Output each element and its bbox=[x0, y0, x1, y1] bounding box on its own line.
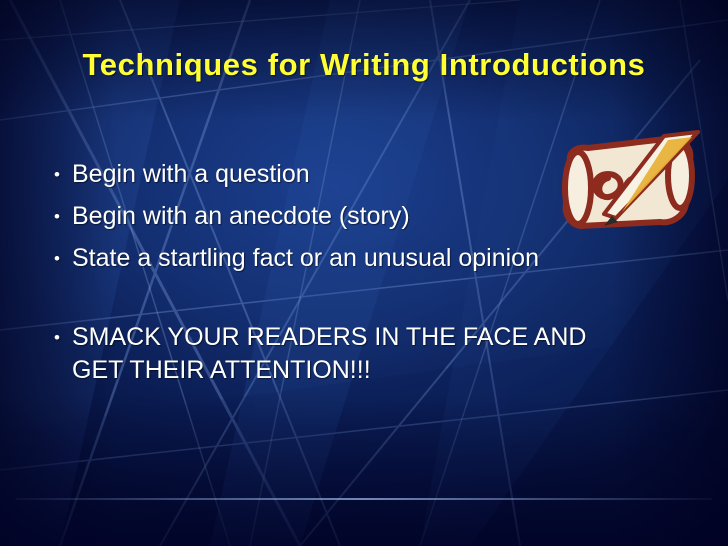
list-item-text: State a startling fact or an unusual opi… bbox=[72, 242, 632, 275]
list-item: • SMACK YOUR READERS IN THE FACE AND GET… bbox=[42, 321, 682, 387]
bullet-icon: • bbox=[42, 158, 72, 191]
bullet-icon: • bbox=[42, 200, 72, 233]
list-item-text: Begin with a question bbox=[72, 158, 632, 191]
presentation-slide: Techniques for Writing Introductions • B… bbox=[0, 0, 728, 546]
slide-body-list: • Begin with a question • Begin with an … bbox=[42, 158, 682, 396]
bullet-icon: • bbox=[42, 321, 72, 354]
list-item-text: SMACK YOUR READERS IN THE FACE AND GET T… bbox=[72, 321, 632, 387]
list-item-text: Begin with an anecdote (story) bbox=[72, 200, 632, 233]
footer-divider bbox=[16, 498, 712, 500]
list-item: • Begin with an anecdote (story) bbox=[42, 200, 682, 233]
slide-title: Techniques for Writing Introductions bbox=[56, 46, 672, 84]
bullet-icon: • bbox=[42, 242, 72, 275]
list-item: • Begin with a question bbox=[42, 158, 682, 191]
list-item: • State a startling fact or an unusual o… bbox=[42, 242, 682, 275]
